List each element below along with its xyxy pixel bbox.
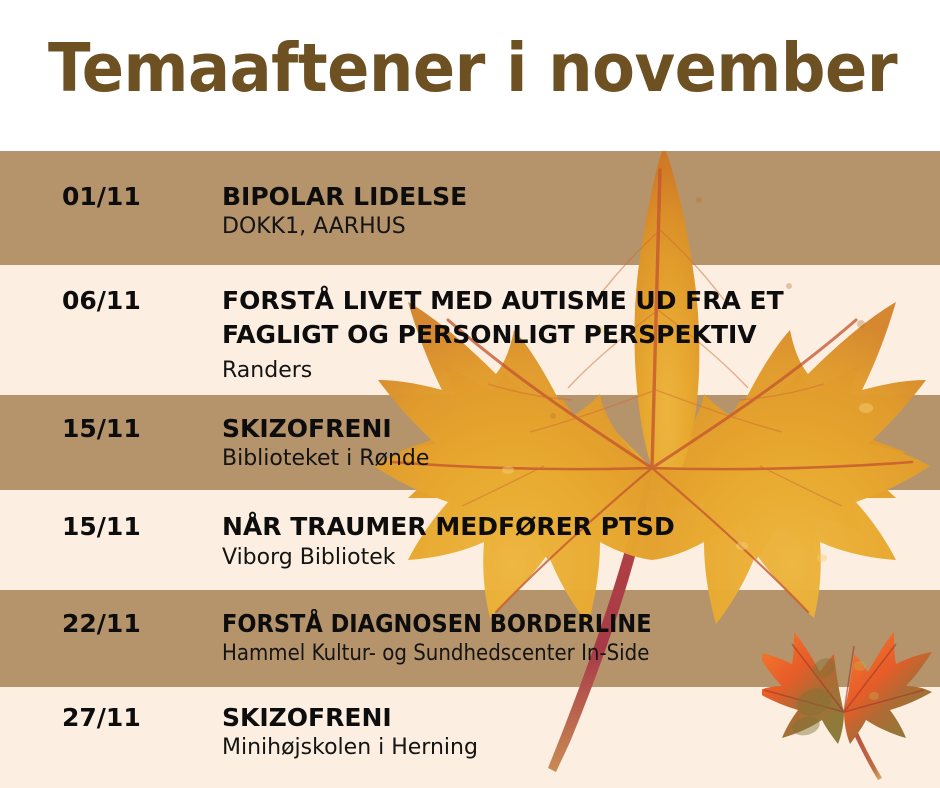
event-title: BIPOLAR LIDELSE <box>222 180 467 214</box>
event-row[interactable]: 06/11FORSTÅ LIVET MED AUTISME UD FRA ET … <box>0 265 940 395</box>
event-title: SKIZOFRENI <box>222 412 392 446</box>
event-date: 15/11 <box>62 414 141 443</box>
poster-header: Temaaftener i november <box>0 0 940 151</box>
event-date: 06/11 <box>62 286 141 315</box>
event-date: 27/11 <box>62 703 141 732</box>
event-venue: Randers <box>222 358 312 383</box>
event-title: FORSTÅ DIAGNOSEN BORDERLINE <box>222 607 652 641</box>
event-date: 01/11 <box>62 182 141 211</box>
event-venue: Hammel Kultur- og Sundhedscenter In-Side <box>222 641 649 666</box>
event-date: 15/11 <box>62 512 141 541</box>
event-venue: Biblioteket i Rønde <box>222 446 429 471</box>
event-row[interactable]: 22/11FORSTÅ DIAGNOSEN BORDERLINEHammel K… <box>0 590 940 687</box>
event-row[interactable]: 15/11NÅR TRAUMER MEDFØRER PTSDViborg Bib… <box>0 490 940 590</box>
event-venue: Minihøjskolen i Herning <box>222 735 478 760</box>
event-row[interactable]: 27/11SKIZOFRENIMinihøjskolen i Herning <box>0 687 940 788</box>
event-venue: DOKK1, AARHUS <box>222 214 406 239</box>
event-date: 22/11 <box>62 609 141 638</box>
event-venue: Viborg Bibliotek <box>222 545 395 570</box>
event-title: NÅR TRAUMER MEDFØRER PTSD <box>222 510 675 544</box>
page-title: Temaaftener i november <box>48 28 897 108</box>
event-row[interactable]: 15/11SKIZOFRENIBiblioteket i Rønde <box>0 395 940 490</box>
event-row[interactable]: 01/11BIPOLAR LIDELSEDOKK1, AARHUS <box>0 151 940 265</box>
event-title: SKIZOFRENI <box>222 701 392 735</box>
poster-canvas: Temaaftener i november 01/11BIPOLAR LIDE… <box>0 0 940 788</box>
event-title: FORSTÅ LIVET MED AUTISME UD FRA ET FAGLI… <box>222 284 784 352</box>
